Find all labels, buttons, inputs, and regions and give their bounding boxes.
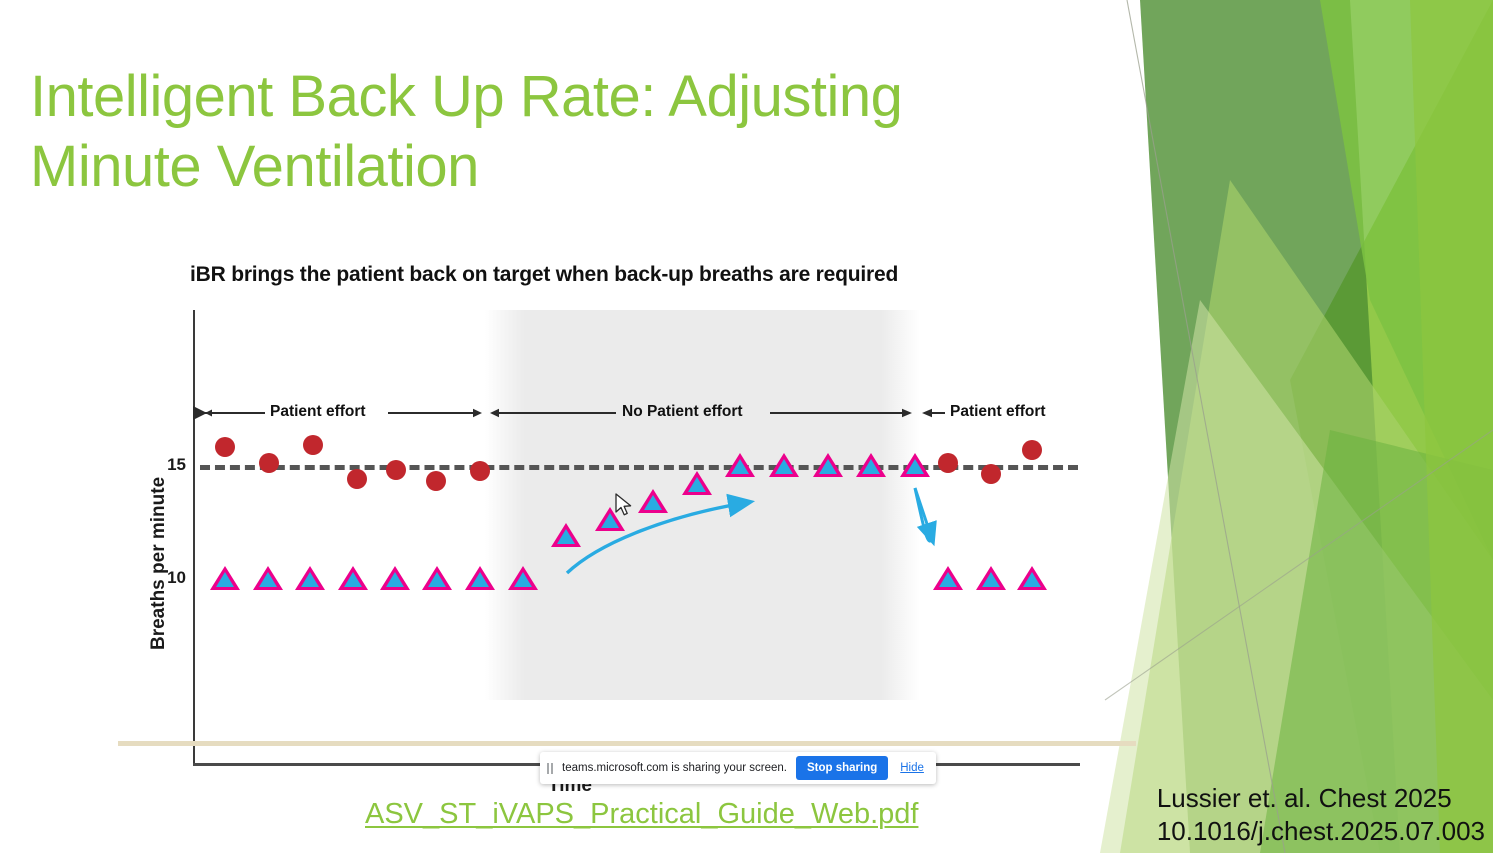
share-status-text: teams.microsoft.com is sharing your scre… <box>562 762 787 774</box>
citation-text: Lussier et. al. Chest 2025 10.1016/j.che… <box>1157 782 1485 847</box>
patient-rate-marker <box>259 453 279 473</box>
hide-link[interactable]: Hide <box>897 762 927 774</box>
footer-divider <box>118 741 1136 746</box>
phase-arrows <box>130 310 1110 440</box>
patient-rate-marker <box>386 460 406 480</box>
patient-rate-marker <box>303 435 323 455</box>
slide-title: Intelligent Back Up Rate: Adjusting Minu… <box>30 62 990 201</box>
pdf-source-link[interactable]: ASV_ST_iVAPS_Practical_Guide_Web.pdf <box>365 798 918 831</box>
patient-rate-marker <box>426 471 446 491</box>
screen-share-bar: teams.microsoft.com is sharing your scre… <box>540 752 936 784</box>
chart-plot-area: Breaths per minute 15 10 Time Patient ef… <box>130 310 1110 730</box>
patient-rate-marker <box>215 437 235 457</box>
patient-rate-marker <box>470 461 490 481</box>
patient-rate-marker <box>981 464 1001 484</box>
patient-rate-marker <box>1022 440 1042 460</box>
decorative-green-graphic <box>1080 0 1493 853</box>
mouse-cursor <box>615 493 635 519</box>
presentation-slide: Intelligent Back Up Rate: Adjusting Minu… <box>0 0 1493 853</box>
pause-icon <box>547 763 553 774</box>
patient-rate-marker <box>938 453 958 473</box>
deco-polygons <box>1080 0 1493 853</box>
y-tick-15: 15 <box>158 455 186 475</box>
figure-caption: iBR brings the patient back on target wh… <box>190 263 1090 287</box>
y-tick-10: 10 <box>158 568 186 588</box>
patient-rate-marker <box>347 469 367 489</box>
stop-sharing-button[interactable]: Stop sharing <box>796 756 888 780</box>
y-axis-label: Breaths per minute <box>148 477 170 650</box>
